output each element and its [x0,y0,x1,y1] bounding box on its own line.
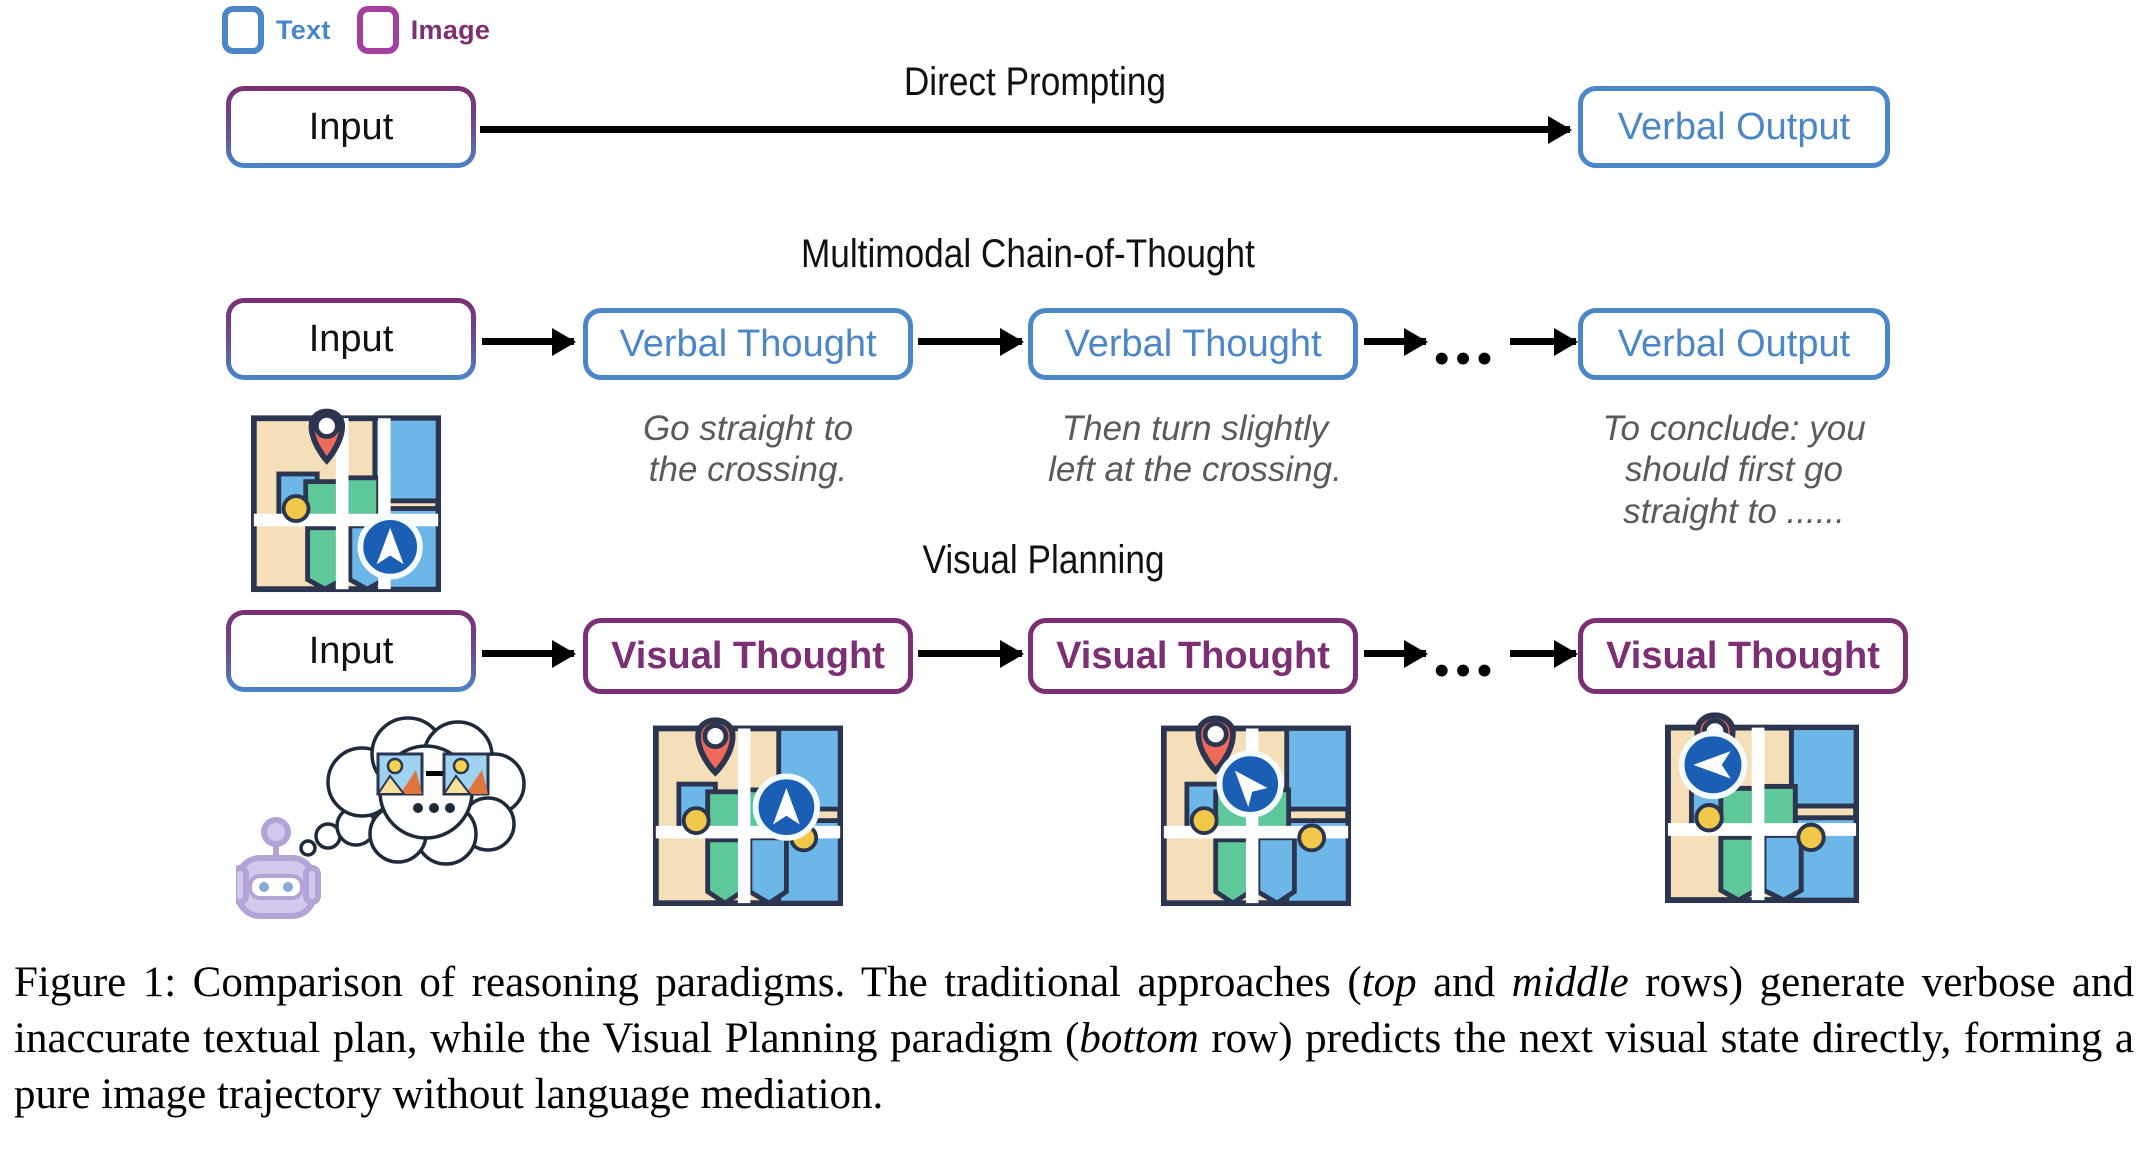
cot-step-3-caption-line-1: To conclude: you [1582,408,1886,449]
image-thumbnail-icon [378,754,422,794]
bubble-ellipsis-icon [413,803,455,813]
cot-step-2-caption: Then turn slightly left at the crossing. [1030,408,1360,491]
figure-caption-emphasis-top: top [1362,959,1417,1006]
cot-step-2-caption-line-2: left at the crossing. [1030,449,1360,490]
cot-step-1-caption-line-1: Go straight to [598,408,898,449]
rounded-square-outline-icon [222,6,264,54]
cot-step-2-label: Verbal Thought [1064,325,1321,363]
map-navigation-arrow-icon [756,776,817,837]
direct-prompting-output-box[interactable]: Verbal Output [1578,86,1890,168]
image-thumbnail-icon [444,754,488,794]
arrow-vp-ellipsis-to-step3 [1510,650,1576,657]
figure-caption-emphasis-middle: middle [1512,959,1629,1006]
visual-planning-input-box[interactable]: Input [226,610,476,692]
cot-step-2-caption-line-1: Then turn slightly [1030,408,1360,449]
cot-step-3-caption-line-2: should first go [1582,449,1886,490]
arrow-cot-ellipsis-to-output [1510,338,1576,345]
direct-prompting-input-label: Input [309,108,394,146]
visual-planning-step-2-box[interactable]: Visual Thought [1028,618,1358,694]
visual-planning-step-3-box[interactable]: Visual Thought [1578,618,1908,694]
figure-caption-emphasis-bottom: bottom [1079,1015,1198,1062]
robot-thinking-icon [236,700,536,925]
map-navigation-arrow-icon [1220,753,1281,814]
arrow-input-to-verbal-output [480,126,1570,133]
cot-step-3-label: Verbal Output [1618,325,1850,363]
direct-prompting-input-box[interactable]: Input [226,86,476,168]
visual-planning-ellipsis: ••• [1434,662,1498,680]
legend-item-text: Text [222,6,331,54]
arrow-cot-step1-to-step2 [918,338,1022,345]
cot-input-map-image [250,398,442,596]
row-title-multimodal-cot: Multimodal Chain-of-Thought [801,232,1255,277]
cot-step-3-caption: To conclude: you should first go straigh… [1582,408,1886,532]
cot-step-1-caption-line-2: the crossing. [598,449,898,490]
figure-caption-prefix: Figure 1: Comparison of reasoning paradi… [14,959,1362,1006]
visual-planning-step-1-map-image [652,712,844,910]
row-title-direct-prompting: Direct Prompting [904,60,1166,105]
cot-step-1-label: Verbal Thought [619,325,876,363]
map-navigation-arrow-icon [1682,733,1745,796]
visual-planning-step-2-map-image [1160,712,1352,910]
cot-step-2-box[interactable]: Verbal Thought [1028,308,1358,380]
visual-planning-step-3-map-image [1664,704,1860,908]
visual-planning-step-1-box[interactable]: Visual Thought [583,618,913,694]
arrow-cot-step2-to-ellipsis [1364,338,1426,345]
legend-label-text: Text [276,15,331,46]
visual-planning-step-2-label: Visual Thought [1056,637,1330,675]
direct-prompting-output-label: Verbal Output [1618,108,1850,146]
cot-step-1-box[interactable]: Verbal Thought [583,308,913,380]
cot-input-label: Input [309,320,394,358]
legend-label-image: Image [411,15,491,46]
rounded-square-outline-icon [357,6,399,54]
arrow-cot-input-to-step1 [482,338,574,345]
map-navigation-arrow-icon [360,517,420,577]
visual-planning-step-3-label: Visual Thought [1606,637,1880,675]
figure-caption-mid-1: and [1417,959,1512,1006]
legend-item-image: Image [357,6,491,54]
cot-ellipsis: ••• [1434,350,1498,368]
cot-step-1-caption: Go straight to the crossing. [598,408,898,491]
arrow-vp-step2-to-ellipsis [1364,650,1426,657]
row-title-visual-planning: Visual Planning [923,538,1165,583]
legend: Text Image [222,6,490,54]
arrow-vp-step1-to-step2 [918,650,1022,657]
visual-planning-input-label: Input [309,632,394,670]
cot-input-box[interactable]: Input [226,298,476,380]
arrow-vp-input-to-step1 [482,650,574,657]
visual-planning-step-1-label: Visual Thought [611,637,885,675]
cot-step-3-caption-line-3: straight to ...... [1582,491,1886,532]
figure-caption: Figure 1: Comparison of reasoning paradi… [14,955,2134,1123]
cot-step-3-box[interactable]: Verbal Output [1578,308,1890,380]
